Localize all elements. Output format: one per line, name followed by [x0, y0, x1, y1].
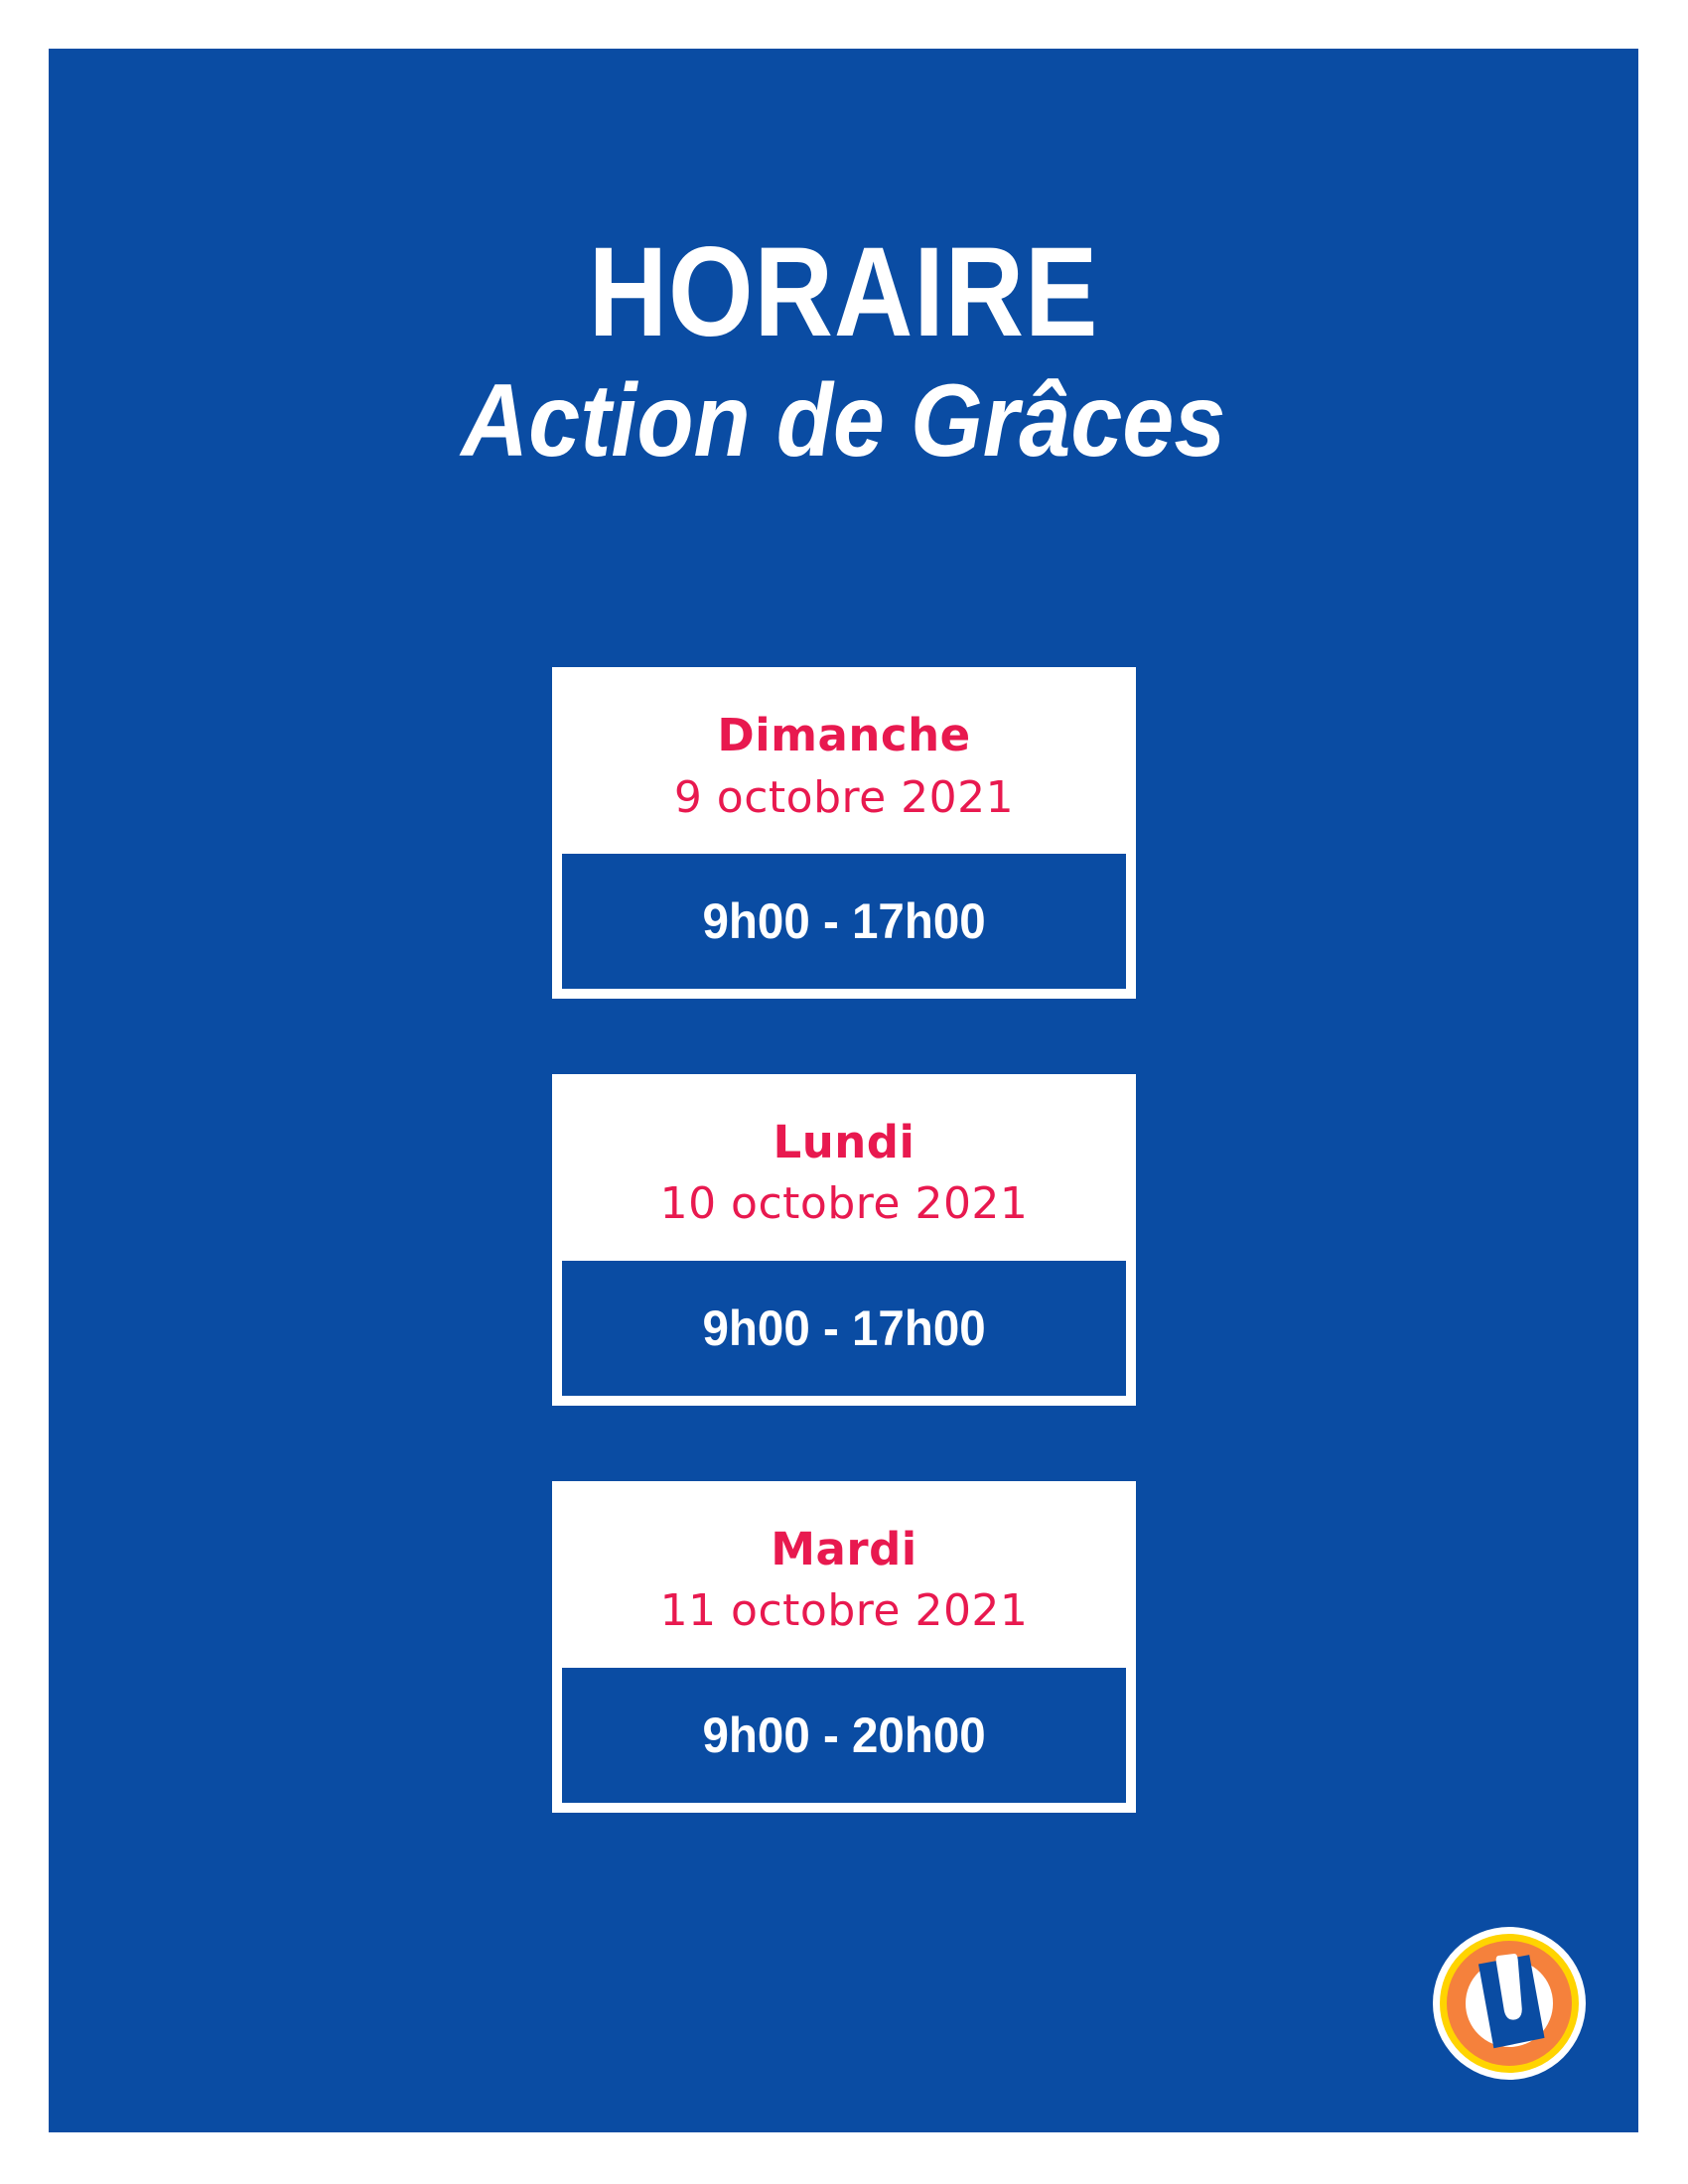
- schedule-day-label: Mardi: [558, 1525, 1130, 1574]
- uniprix-logo: [1431, 1925, 1588, 2082]
- schedule-hours-label: 9h00 - 17h00: [702, 892, 985, 950]
- title-block: HORAIRE Action de Grâces: [49, 49, 1638, 476]
- poster-page: HORAIRE Action de Grâces Dimanche 9 octo…: [0, 0, 1688, 2184]
- page-subtitle: Action de Grâces: [128, 353, 1559, 476]
- schedule-date-label: 9 octobre 2021: [558, 774, 1130, 822]
- schedule-card: Lundi 10 octobre 2021 9h00 - 17h00: [552, 1074, 1136, 1406]
- page-title: HORAIRE: [160, 49, 1527, 353]
- schedule-date-label: 11 octobre 2021: [558, 1587, 1130, 1635]
- schedule-card: Dimanche 9 octobre 2021 9h00 - 17h00: [552, 667, 1136, 999]
- schedule-card-header: Dimanche 9 octobre 2021: [558, 673, 1130, 850]
- schedule-date-label: 10 octobre 2021: [558, 1180, 1130, 1228]
- schedule-day-label: Dimanche: [558, 711, 1130, 760]
- schedule-card-header: Mardi 11 octobre 2021: [558, 1487, 1130, 1664]
- uniprix-logo-icon: [1431, 1925, 1588, 2082]
- schedule-hours-bar: 9h00 - 20h00: [558, 1664, 1130, 1807]
- schedule-hours-label: 9h00 - 17h00: [702, 1299, 985, 1357]
- schedule-hours-label: 9h00 - 20h00: [702, 1706, 985, 1764]
- schedule-card: Mardi 11 octobre 2021 9h00 - 20h00: [552, 1481, 1136, 1813]
- schedule-day-label: Lundi: [558, 1118, 1130, 1167]
- schedule-card-list: Dimanche 9 octobre 2021 9h00 - 17h00 Lun…: [552, 667, 1136, 1813]
- schedule-hours-bar: 9h00 - 17h00: [558, 1257, 1130, 1400]
- poster-canvas: HORAIRE Action de Grâces Dimanche 9 octo…: [49, 49, 1638, 2132]
- schedule-card-header: Lundi 10 octobre 2021: [558, 1080, 1130, 1257]
- schedule-hours-bar: 9h00 - 17h00: [558, 850, 1130, 993]
